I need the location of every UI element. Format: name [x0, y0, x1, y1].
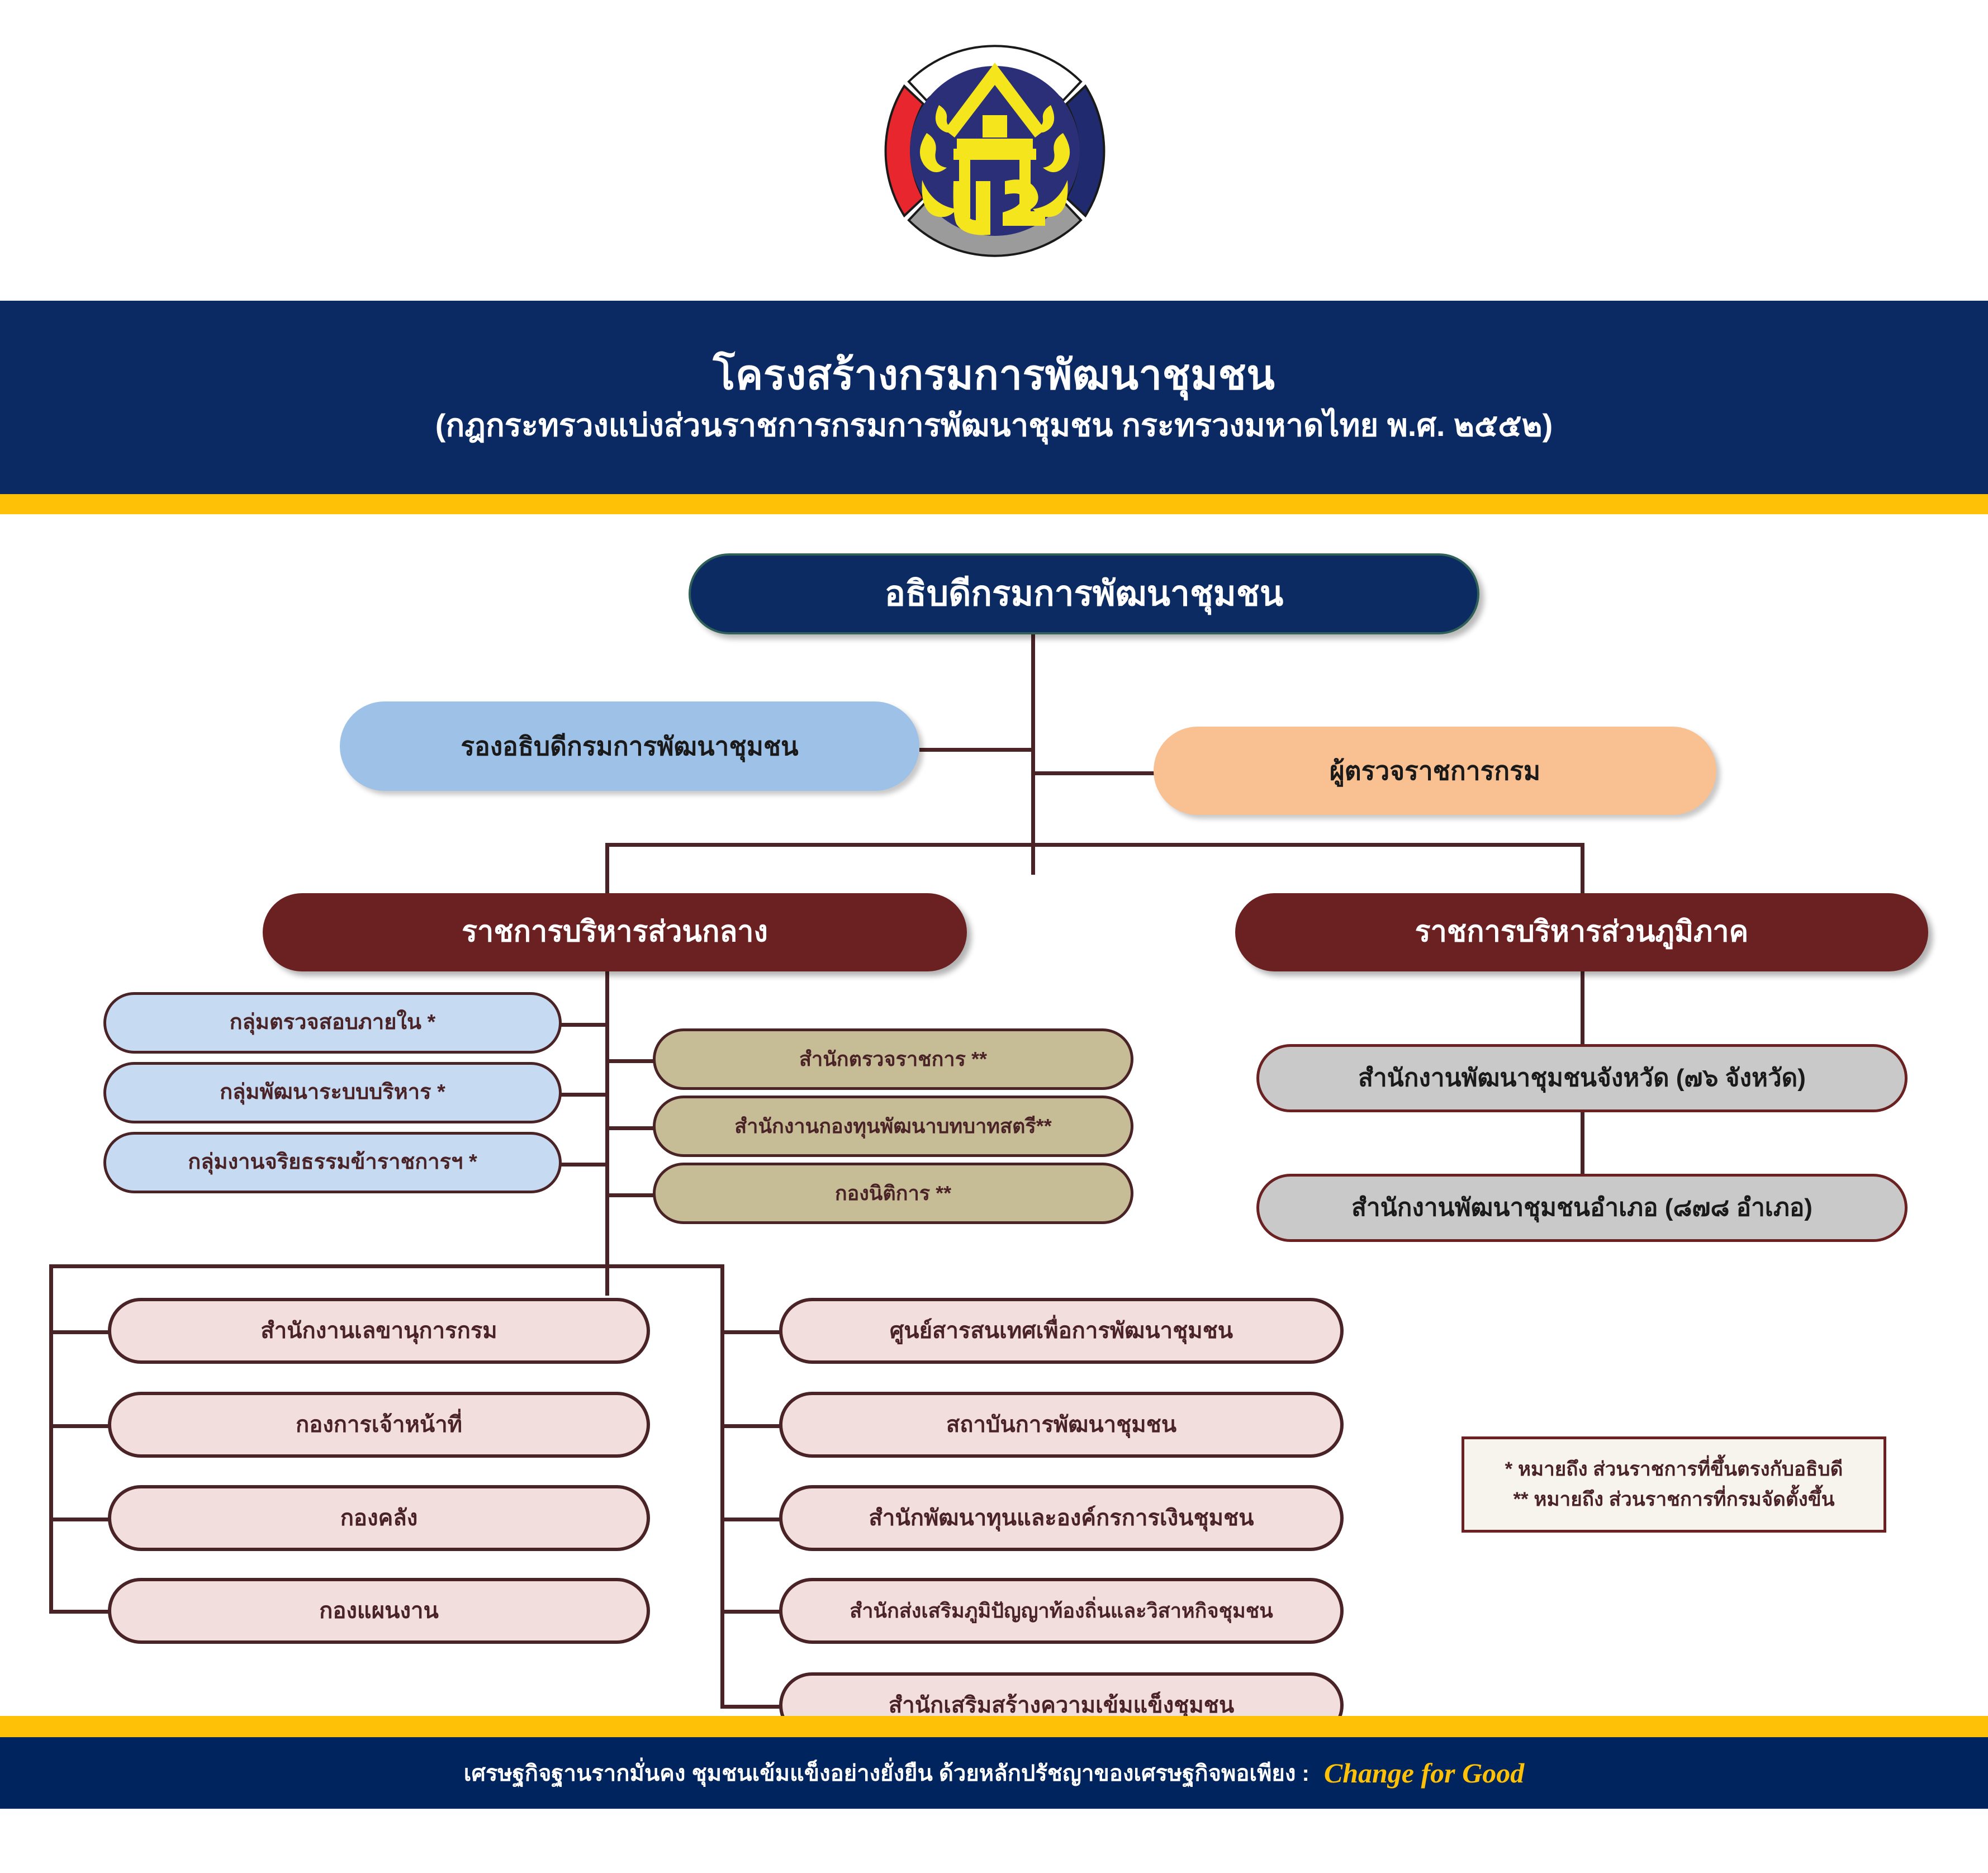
connector-main-split-bar — [605, 843, 1584, 847]
footer-divider-rule — [0, 1716, 1988, 1737]
node-central-left-4[interactable]: กองแผนงาน — [108, 1578, 650, 1644]
node-central-left-2[interactable]: กองการเจ้าหน้าที่ — [108, 1392, 650, 1458]
connector-to-deputy — [919, 748, 1033, 752]
footer-motto: เศรษฐกิจฐานรากมั่นคง ชุมชนเข้มแข็งอย่างย… — [464, 1755, 1309, 1791]
page-header: โครงสร้างกรมการพัฒนาชุมชน (กฎกระทรวงแบ่ง… — [0, 301, 1988, 494]
legend-line-single-asterisk: * หมายถึง ส่วนราชการที่ขึ้นตรงกับอธิบดี — [1477, 1454, 1871, 1485]
connector-right-unit-5 — [720, 1705, 782, 1709]
connector-right-unit-4 — [720, 1610, 782, 1614]
page-footer: เศรษฐกิจฐานรากมั่นคง ชุมชนเข้มแข็งอย่างย… — [0, 1737, 1988, 1809]
cdd-emblem-icon — [855, 11, 1135, 291]
connector-blue-2 — [559, 1093, 609, 1097]
connector-regional-2 — [1581, 1112, 1584, 1174]
page-title: โครงสร้างกรมการพัฒนาชุมชน — [713, 351, 1275, 399]
node-central-right-2[interactable]: สถาบันการพัฒนาชุมชน — [779, 1392, 1344, 1458]
node-central-right-3[interactable]: สำนักพัฒนาทุนและองค์กรการเงินชุมชน — [779, 1485, 1344, 1551]
node-dept-unit-2[interactable]: สำนักงานกองทุนพัฒนาบทบาทสตรี** — [653, 1096, 1133, 1157]
node-regional-unit-2[interactable]: สำนักงานพัฒนาชุมชนอำเภอ (๘๗๘ อำเภอ) — [1256, 1174, 1908, 1242]
node-department-inspector[interactable]: ผู้ตรวจราชการกรม — [1154, 727, 1716, 815]
node-deputy-director[interactable]: รองอธิบดีกรมการพัฒนาชุมชน — [340, 701, 919, 791]
connector-tan-3 — [605, 1193, 656, 1197]
node-direct-unit-1[interactable]: กลุ่มตรวจสอบภายใน * — [103, 992, 562, 1054]
legend-box: * หมายถึง ส่วนราชการที่ขึ้นตรงกับอธิบดี … — [1462, 1436, 1886, 1533]
footer-slogan: Change for Good — [1324, 1757, 1524, 1789]
connector-bottom-left-spine — [49, 1264, 53, 1611]
page-subtitle: (กฎกระทรวงแบ่งส่วนราชการกรมการพัฒนาชุมชน… — [435, 406, 1553, 444]
node-central-left-3[interactable]: กองคลัง — [108, 1485, 650, 1551]
connector-left-unit-1 — [49, 1330, 111, 1334]
connector-bottom-bracket — [49, 1264, 724, 1268]
node-dept-unit-3[interactable]: กองนิติการ ** — [653, 1163, 1133, 1224]
connector-blue-1 — [559, 1023, 609, 1027]
node-direct-unit-2[interactable]: กลุ่มพัฒนาระบบบริหาร * — [103, 1062, 562, 1123]
connector-right-unit-1 — [720, 1330, 782, 1334]
connector-right-unit-3 — [720, 1518, 782, 1521]
node-director[interactable]: อธิบดีกรมการพัฒนาชุมชน — [689, 553, 1479, 634]
legend-line-double-asterisk: ** หมายถึง ส่วนราชการที่กรมจัดตั้งขึ้น — [1477, 1485, 1871, 1515]
connector-tan-2 — [605, 1126, 656, 1130]
connector-regional-1 — [1581, 960, 1584, 1044]
node-central-administration[interactable]: ราชการบริหารส่วนกลาง — [263, 893, 967, 971]
node-central-left-1[interactable]: สำนักงานเลขานุการกรม — [108, 1298, 650, 1364]
connector-director-spine — [1031, 634, 1035, 875]
connector-tan-1 — [605, 1059, 656, 1063]
node-central-right-4[interactable]: สำนักส่งเสริมภูมิปัญญาท้องถิ่นและวิสาหกิ… — [779, 1578, 1344, 1644]
connector-blue-3 — [559, 1163, 609, 1167]
connector-right-unit-2 — [720, 1424, 782, 1428]
agency-logo — [855, 11, 1135, 291]
connector-left-unit-2 — [49, 1424, 111, 1428]
connector-left-unit-4 — [49, 1610, 111, 1614]
connector-left-unit-3 — [49, 1518, 111, 1521]
node-direct-unit-3[interactable]: กลุ่มงานจริยธรรมข้าราชการฯ * — [103, 1132, 562, 1193]
node-regional-unit-1[interactable]: สำนักงานพัฒนาชุมชนจังหวัด (๗๖ จังหวัด) — [1256, 1044, 1908, 1112]
connector-to-inspector — [1031, 771, 1154, 775]
node-dept-unit-1[interactable]: สำนักตรวจราชการ ** — [653, 1028, 1133, 1090]
node-regional-administration[interactable]: ราชการบริหารส่วนภูมิภาค — [1235, 893, 1928, 971]
header-divider-rule — [0, 494, 1988, 514]
node-central-right-1[interactable]: ศูนย์สารสนเทศเพื่อการพัฒนาชุมชน — [779, 1298, 1344, 1364]
